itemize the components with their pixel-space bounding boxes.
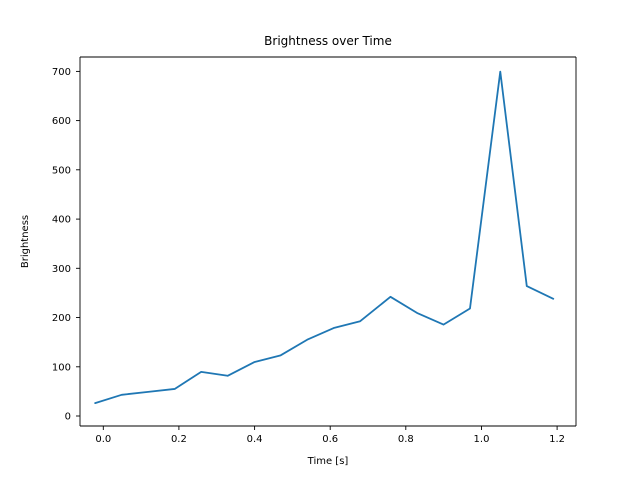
brightness-over-time-chart: Brightness over Time 0 100 200 300 400 5…	[0, 0, 640, 480]
y-tick-label-0: 0	[65, 412, 71, 423]
x-tick-label-0.0: 0.0	[95, 434, 111, 445]
y-axis-label: Brightness	[20, 215, 31, 268]
y-tick-label-500: 500	[52, 165, 71, 176]
x-tick-label-1.0: 1.0	[474, 434, 490, 445]
matplotlib-figure: Brightness over Time 0 100 200 300 400 5…	[0, 0, 640, 480]
plot-area-background	[80, 57, 576, 426]
x-tick-label-0.4: 0.4	[247, 434, 263, 445]
x-tick-label-0.2: 0.2	[171, 434, 187, 445]
y-tick-label-300: 300	[52, 264, 71, 275]
y-tick-label-100: 100	[52, 362, 71, 373]
x-axis-label: Time [s]	[307, 456, 349, 467]
y-tick-label-600: 600	[52, 116, 71, 127]
x-tick-label-0.8: 0.8	[398, 434, 414, 445]
x-tick-label-0.6: 0.6	[322, 434, 338, 445]
page-title: Brightness over Time	[264, 34, 392, 48]
x-tick-label-1.2: 1.2	[549, 434, 565, 445]
y-tick-label-200: 200	[52, 313, 71, 324]
y-tick-label-700: 700	[52, 67, 71, 78]
y-tick-label-400: 400	[52, 215, 71, 226]
